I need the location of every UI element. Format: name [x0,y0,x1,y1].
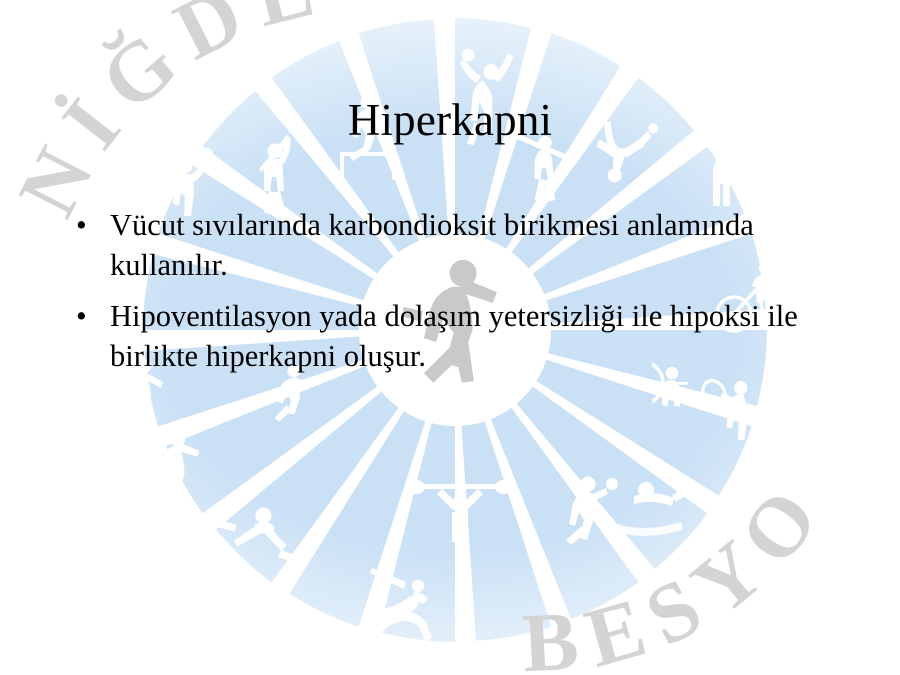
presentation-slide: NİĞDE BESYO Hiperkapni • Vücut sıvıların… [0,0,900,675]
bullet-marker: • [76,297,87,337]
slide-content: Hiperkapni • Vücut sıvılarında karbondio… [0,0,900,675]
bullet-list: • Vücut sıvılarında karbondioksit birikm… [62,206,852,389]
bullet-text: Hipoventilasyon yada dolaşım yetersizliğ… [110,297,852,376]
list-item: • Vücut sıvılarında karbondioksit birikm… [62,206,852,285]
bullet-text: Vücut sıvılarında karbondioksit birikmes… [110,206,852,285]
bullet-marker: • [76,206,87,246]
list-item: • Hipoventilasyon yada dolaşım yetersizl… [62,297,852,376]
page-title: Hiperkapni [0,96,900,145]
